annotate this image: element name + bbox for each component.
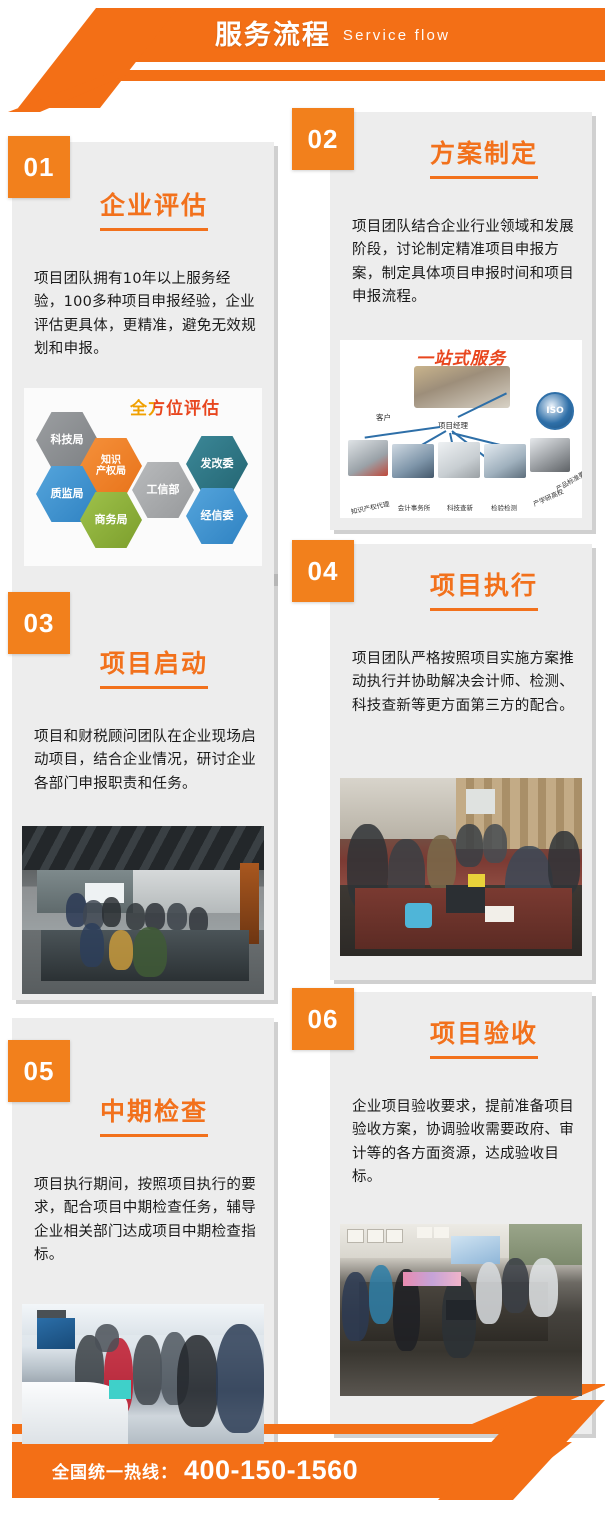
header-banner: 服务流程 Service flow [0,0,605,100]
step-title: 项目启动 [100,652,208,689]
step-number-badge: 03 [8,592,70,654]
flow-thumb-univ [530,438,570,472]
flow-thumb-ip [348,440,388,476]
conference-room-kickoff-photo [22,826,264,994]
all-round-assessment-diagram: 全方位评估 科技局 知识产权局 发改委 质监局 工信部 经信委 商务局 [24,388,262,566]
step-card-04[interactable]: 04 项目执行 项目团队严格按照项目实施方案推动执行并协助解决会计师、检测、科技… [330,544,592,980]
flow-node-manager: 项目经理 [438,420,468,431]
flow-caption-2: 科技查新 [438,502,482,512]
step-description: 项目团队结合企业行业领域和发展阶段，讨论制定精准项目申报方案，制定具体项目申报时… [352,216,574,310]
hex-node-jingxin: 经信委 [186,488,248,544]
one-stop-service-diagram: 一站式服务 客户 项目经理 ISO 知识产权代理 会计事务所 科技查新 [340,340,582,518]
flow-hero-photo [414,366,510,408]
hotline-label: 全国统一热线： [52,1458,178,1483]
flow-thumb-test [484,444,526,478]
service-flow-grid: 01 企业评估 项目团队拥有10年以上服务经验，100多种项目申报经验，企业评估… [0,100,605,1410]
page-title: 服务流程 [215,22,331,49]
iso-seal-icon: ISO [536,392,574,430]
step-description: 项目团队拥有10年以上服务经验，100多种项目申报经验，企业评估更具体，更精准，… [34,268,256,362]
flow-caption-3: 检验检测 [482,502,526,512]
site-inspection-photo [22,1304,264,1444]
step-title: 企业评估 [100,194,208,231]
flow-caption-1: 会计事务所 [390,502,438,512]
step-title: 方案制定 [430,142,538,179]
hex-node-gongxin: 工信部 [132,462,194,518]
step-card-05[interactable]: 05 中期检查 项目执行期间，按照项目执行的要求，配合项目中期检查任务，辅导企业… [12,1018,274,1452]
flow-node-customer: 客户 [376,412,391,423]
step-title: 项目执行 [430,574,538,611]
step-title: 中期检查 [100,1100,208,1137]
step-card-06[interactable]: 06 项目验收 企业项目验收要求，提前准备项目验收方案，协调验收需要政府、审计等… [330,992,592,1434]
team-working-meeting-photo [340,778,582,956]
step-card-02[interactable]: 02 方案制定 项目团队结合企业行业领域和发展阶段，讨论制定精准项目申报方案，制… [330,112,592,530]
flow-arrow-6 [365,426,441,439]
acceptance-meeting-photo [340,1224,582,1396]
step-title: 项目验收 [430,1022,538,1059]
step-number-badge: 01 [8,136,70,198]
step-number-badge: 04 [292,540,354,602]
flow-thumb-novel [438,442,480,478]
step-number-badge: 05 [8,1040,70,1102]
hotline-number[interactable]: 400-150-1560 [184,1455,358,1486]
hex-node-fagai: 发改委 [186,436,248,492]
hex-diagram-title: 全方位评估 [100,394,250,419]
step-description: 项目执行期间，按照项目执行的要求，配合项目中期检查任务，辅导企业相关部门达成项目… [34,1174,256,1268]
step-description: 企业项目验收要求，提前准备项目验收方案，协调验收需要政府、审计等的各方面资源，达… [352,1096,574,1190]
step-description: 项目团队严格按照项目实施方案推动执行并协助解决会计师、检测、科技查新等更方面第三… [352,648,574,718]
page-title-english: Service flow [343,28,450,43]
step-number-badge: 06 [292,988,354,1050]
step-card-01[interactable]: 01 企业评估 项目团队拥有10年以上服务经验，100多种项目申报经验，企业评估… [12,142,274,582]
step-card-03[interactable]: 03 项目启动 项目和财税顾问团队在企业现场启动项目，结合企业情况，研讨企业各部… [12,570,274,1000]
flow-thumb-acct [392,444,434,478]
header-title-group: 服务流程 Service flow [0,8,605,62]
hotline-group: 全国统一热线： 400-150-1560 [52,1442,358,1498]
step-description: 项目和财税顾问团队在企业现场启动项目，结合企业情况，研讨企业各部门申报职责和任务… [34,726,256,796]
step-number-badge: 02 [292,108,354,170]
flow-caption-0: 知识产权代理 [344,497,397,518]
